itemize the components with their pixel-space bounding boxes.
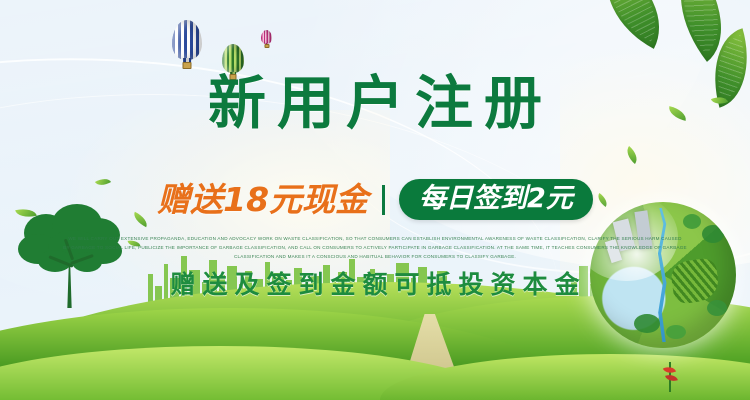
cash-bonus-label: 赠送18元现金: [157, 183, 368, 216]
daily-checkin-badge: 每日签到2元: [399, 179, 593, 220]
promo-row: 赠送18元现金 每日签到2元: [0, 179, 750, 220]
page-title: 新用户注册: [0, 74, 750, 132]
english-line: BY GARBAGE TO SOCIAL LIFE, PUBLICIZE THE…: [60, 244, 690, 253]
english-description: WE WILL CARRY OUT EXTENSIVE PROPAGANDA, …: [60, 235, 690, 262]
english-line: CLASSIFICATION AND MAKES IT A CONSCIOUS …: [60, 253, 690, 262]
english-line: WE WILL CARRY OUT EXTENSIVE PROPAGANDA, …: [60, 235, 690, 244]
tagline: 赠送及签到金额可抵投资本金: [0, 272, 750, 297]
red-sprout-icon: [664, 362, 676, 392]
hot-air-balloon-icon: [261, 30, 272, 44]
hot-air-balloon-icon: [172, 20, 202, 60]
promo-divider: [382, 185, 385, 215]
promotional-banner: 新用户注册 赠送18元现金 每日签到2元 WE WILL CARRY OUT E…: [0, 0, 750, 400]
